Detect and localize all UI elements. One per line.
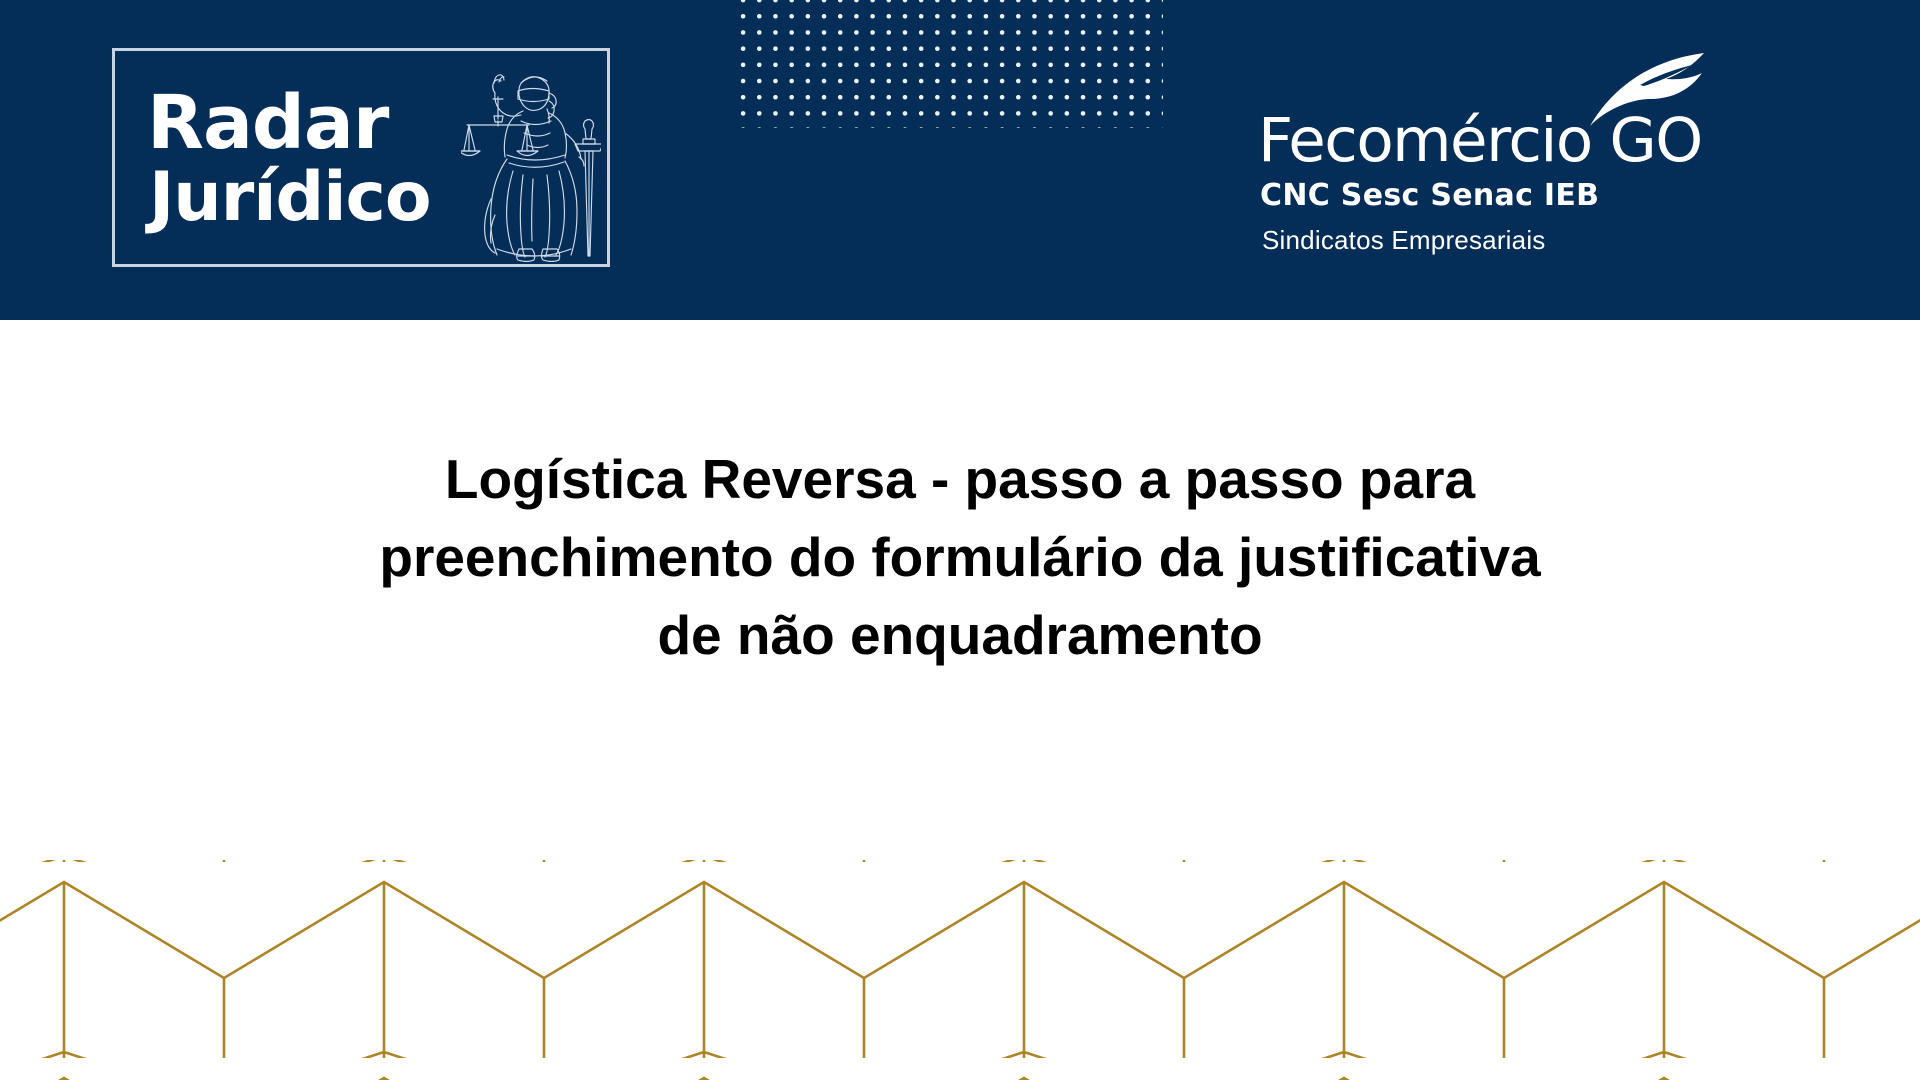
header-bar: Radar Jurídico xyxy=(0,0,1920,320)
radar-juridico-logo: Radar Jurídico xyxy=(112,48,610,267)
title-line-1: Logística Reversa - passo a passo para xyxy=(0,440,1920,518)
fecomercio-brands: CNC Sesc Senac IEB xyxy=(1260,181,1599,211)
title-line-2: preenchimento do formulário da justifica… xyxy=(0,518,1920,596)
slide-root: Radar Jurídico xyxy=(0,0,1920,1080)
honeycomb-pattern xyxy=(0,860,1920,1080)
dot-grid-pattern xyxy=(735,0,1163,128)
slide-title: Logística Reversa - passo a passo para p… xyxy=(0,440,1920,674)
title-line-3: de não enquadramento xyxy=(0,596,1920,674)
fecomercio-wordmark: Fecomércio GO xyxy=(1258,110,1702,171)
logo-line-juridico: Jurídico xyxy=(149,164,479,232)
logo-line-radar: Radar xyxy=(147,87,479,160)
lady-justice-icon xyxy=(461,59,601,262)
fecomercio-subtitle: Sindicatos Empresariais xyxy=(1262,227,1546,253)
fecomercio-logo: Fecomércio GO CNC Sesc Senac IEB Sindica… xyxy=(1258,52,1778,267)
radar-juridico-wordmark: Radar Jurídico xyxy=(139,57,479,262)
